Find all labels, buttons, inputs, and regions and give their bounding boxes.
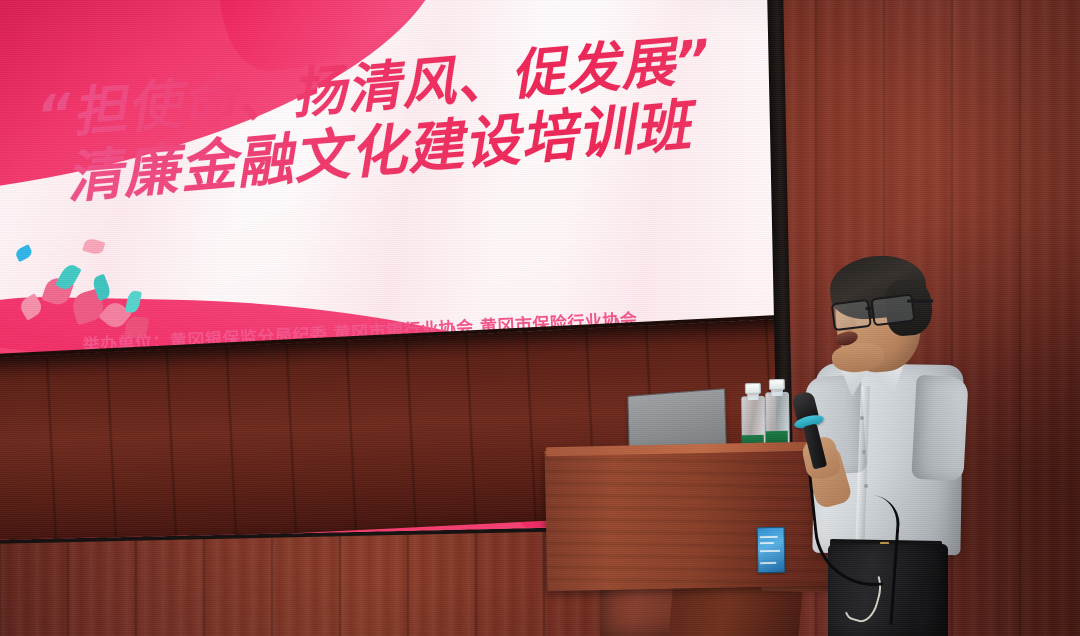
leaf-icon (125, 290, 142, 314)
sticker-text-line (760, 550, 780, 552)
sticker-text-line (760, 562, 776, 564)
bottle-cap (745, 383, 761, 394)
lectern-sticker (757, 527, 786, 573)
sticker-text-line (760, 542, 774, 544)
shirt-button (860, 416, 864, 420)
glasses-temple (907, 300, 933, 303)
water-bottle (765, 382, 788, 448)
right-sleeve (911, 375, 968, 482)
butterfly-icon (14, 244, 34, 262)
shirt-button (862, 450, 866, 454)
butterfly-icon (82, 237, 105, 256)
speaker (806, 252, 986, 636)
bottle-cap (769, 379, 785, 390)
photo-scene: “担使命、扬清风、促发展” 清廉金融文化建设培训班 举办单位：黄冈银保监分局纪委… (0, 0, 1080, 636)
glasses-lens-left (831, 299, 872, 331)
sticker-text-line (760, 536, 778, 538)
glasses-lens-right (870, 293, 915, 326)
